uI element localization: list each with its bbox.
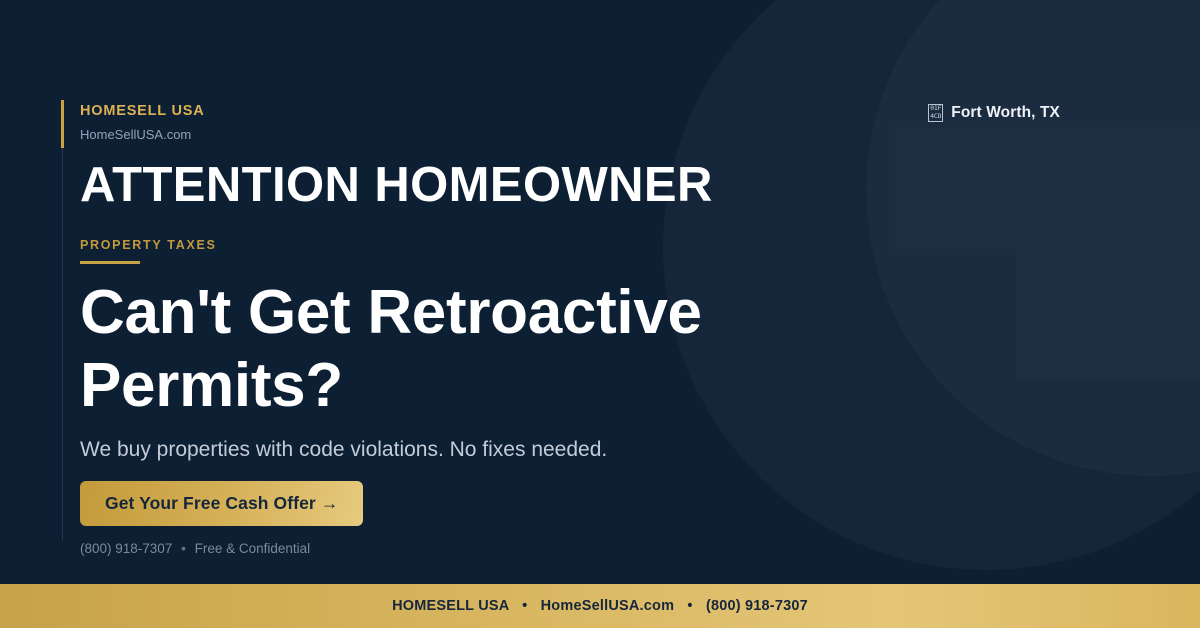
left-rail-divider — [62, 100, 63, 540]
footer-separator-2: • — [678, 598, 701, 614]
brand-website: HomeSellUSA.com — [80, 128, 205, 142]
fineprint: (800) 918-7307 • Free & Confidential — [80, 541, 310, 556]
map-pin-icon-codepoint-bottom: 4CD — [930, 113, 941, 121]
footer-website[interactable]: HomeSellUSA.com — [541, 598, 675, 614]
fineprint-separator: • — [176, 541, 191, 556]
footer-separator-1: • — [513, 598, 536, 614]
attention-line: ATTENTION HOMEOWNER — [80, 160, 713, 211]
page-title: Can't Get Retroactive Permits? — [80, 277, 910, 422]
fineprint-note: Free & Confidential — [195, 541, 311, 556]
subheadline: We buy properties with code violations. … — [80, 436, 607, 463]
eyebrow-label: PROPERTY TAXES — [80, 238, 217, 252]
footer-contact-strip: HOMESELL USA • HomeSellUSA.com • (800) 9… — [392, 598, 808, 614]
advertisement-banner: HOMESELL USA HomeSellUSA.com 01F 4CD For… — [0, 0, 1200, 628]
cash-offer-cta-button[interactable]: Get Your Free Cash Offer → — [80, 481, 363, 526]
brand-block: HOMESELL USA HomeSellUSA.com — [80, 104, 205, 142]
map-pin-icon: 01F 4CD — [928, 104, 943, 122]
content-area: HOMESELL USA HomeSellUSA.com 01F 4CD For… — [80, 0, 1120, 628]
brand-name: HOMESELL USA — [80, 104, 205, 120]
footer-phone[interactable]: (800) 918-7307 — [706, 598, 808, 614]
footer-brand: HOMESELL USA — [392, 598, 509, 614]
eyebrow-underline — [80, 261, 140, 264]
left-rail-gold-accent — [61, 100, 64, 148]
fineprint-phone: (800) 918-7307 — [80, 541, 172, 556]
location-badge: 01F 4CD Fort Worth, TX — [928, 104, 1060, 122]
location-label: Fort Worth, TX — [951, 104, 1060, 122]
footer-bar: HOMESELL USA • HomeSellUSA.com • (800) 9… — [0, 584, 1200, 628]
